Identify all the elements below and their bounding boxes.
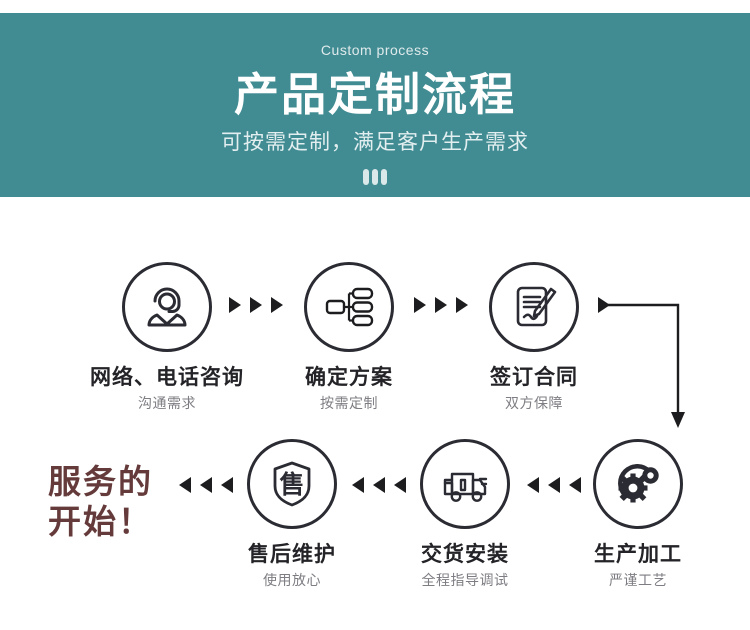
delivery-subtitle: 全程指导调试: [380, 573, 550, 588]
aftersales-subtitle: 使用放心: [207, 573, 377, 588]
flow-step-production[interactable]: 生产加工 严谨工艺: [553, 439, 723, 588]
consult-icon-circle: [122, 262, 212, 352]
banner-dots-decoration: [0, 169, 750, 185]
flowchart-diagram-icon: [321, 279, 377, 335]
banner-dot-1: [363, 169, 369, 185]
flow-step-plan[interactable]: 确定方案 按需定制: [264, 262, 434, 411]
flow-step-delivery[interactable]: 交货安装 全程指导调试: [380, 439, 550, 588]
production-icon-circle: [593, 439, 683, 529]
service-start-line-2: 开始！: [48, 502, 153, 542]
triangle-left-icon: [179, 477, 191, 493]
triangle-right-icon: [435, 297, 447, 313]
triangle-left-icon: [569, 477, 581, 493]
plan-subtitle: 按需定制: [264, 396, 434, 411]
plan-icon-circle: [304, 262, 394, 352]
header-banner: Custom process 产品定制流程 可按需定制，满足客户生产需求: [0, 13, 750, 197]
flow-step-consult[interactable]: 网络、电话咨询 沟通需求: [82, 262, 252, 411]
triangle-left-icon: [221, 477, 233, 493]
arrow-aftersales-to-start: [179, 477, 233, 493]
page-title: 产品定制流程: [0, 70, 750, 120]
flow-step-aftersales[interactable]: 售 售后维护 使用放心: [207, 439, 377, 588]
service-start-line-1: 服务的: [48, 462, 153, 502]
triangle-left-icon: [394, 477, 406, 493]
delivery-truck-icon: [437, 456, 493, 512]
triangle-right-icon: [229, 297, 241, 313]
triangle-right-icon: [414, 297, 426, 313]
flow-step-contract[interactable]: 签订合同 双方保障: [449, 262, 619, 411]
aftersales-title: 售后维护: [207, 543, 377, 566]
triangle-right-icon: [598, 297, 610, 313]
customer-service-person-icon: [139, 279, 195, 335]
consult-title: 网络、电话咨询: [82, 366, 252, 389]
contract-title: 签订合同: [449, 366, 619, 389]
production-title: 生产加工: [553, 543, 723, 566]
production-subtitle: 严谨工艺: [553, 573, 723, 588]
contract-icon-circle: [489, 262, 579, 352]
banner-eyebrow-text: Custom process: [0, 43, 750, 57]
consult-subtitle: 沟通需求: [82, 396, 252, 411]
banner-dot-2: [372, 169, 378, 185]
banner-subtitle: 可按需定制，满足客户生产需求: [0, 130, 750, 155]
shield-character: 售: [279, 470, 304, 499]
delivery-icon-circle: [420, 439, 510, 529]
shield-after-sales-icon: 售: [264, 456, 320, 512]
contract-subtitle: 双方保障: [449, 396, 619, 411]
gears-cycle-icon: [609, 455, 667, 513]
triangle-right-icon: [250, 297, 262, 313]
arrow-contract-to-production: [598, 297, 610, 313]
banner-dot-3: [381, 169, 387, 185]
triangle-left-icon: [200, 477, 212, 493]
process-flow-area: 网络、电话咨询 沟通需求 确定方案 按需定制: [0, 197, 750, 630]
document-pen-signature-icon: [506, 279, 562, 335]
delivery-title: 交货安装: [380, 543, 550, 566]
aftersales-icon-circle: 售: [247, 439, 337, 529]
service-start-label: 服务的 开始！: [48, 462, 153, 543]
plan-title: 确定方案: [264, 366, 434, 389]
